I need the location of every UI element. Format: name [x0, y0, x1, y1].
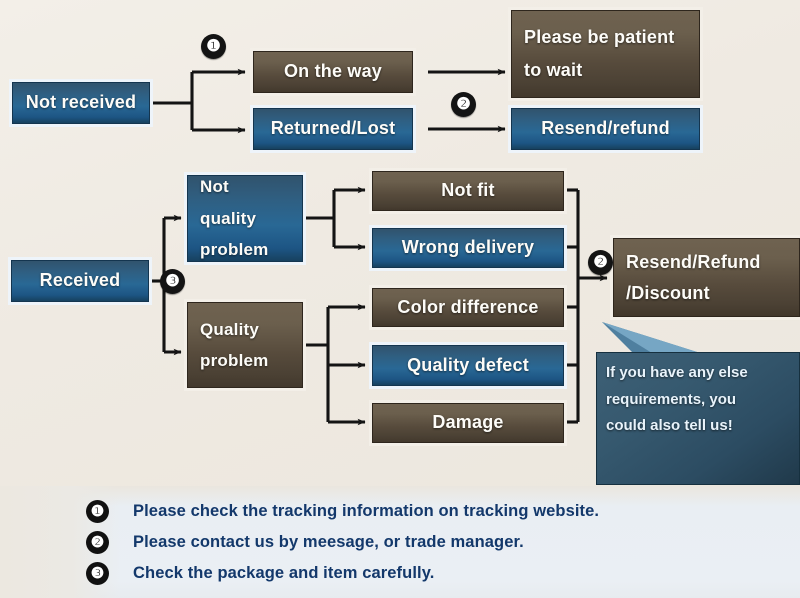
node-received[interactable]: Received: [11, 260, 149, 302]
legend-bullet-2: ❷: [86, 531, 109, 554]
node-label: Received: [12, 264, 148, 297]
node-label: Not quality problem: [200, 171, 290, 265]
node-quality-problem[interactable]: Quality problem: [187, 302, 303, 388]
legend-text-2: Please contact us by meesage, or trade m…: [133, 533, 524, 552]
marker-symbol: ❸: [165, 274, 179, 290]
legend-text-1: Please check the tracking information on…: [133, 502, 599, 521]
marker-symbol: ❶: [206, 39, 220, 55]
node-resend-refund[interactable]: Resend/refund: [511, 108, 700, 150]
node-label: Quality defect: [373, 349, 563, 382]
marker-3-received: ❸: [160, 269, 185, 294]
node-label: Not received: [13, 86, 149, 119]
marker-symbol: ❷: [593, 255, 607, 271]
legend-bullet-1: ❶: [86, 500, 109, 523]
legend: ❶ Please check the tracking information …: [86, 496, 746, 589]
node-label: Resend/refund: [512, 112, 699, 145]
node-label: Wrong delivery: [373, 231, 563, 264]
node-not-quality-problem[interactable]: Not quality problem: [187, 175, 303, 262]
node-not-received[interactable]: Not received: [12, 82, 150, 124]
marker-2-discount: ❷: [588, 250, 613, 275]
legend-bullet-3: ❸: [86, 562, 109, 585]
node-not-fit[interactable]: Not fit: [372, 171, 564, 211]
node-label: On the way: [254, 55, 412, 88]
node-on-the-way[interactable]: On the way: [253, 51, 413, 93]
node-damage[interactable]: Damage: [372, 403, 564, 443]
node-resend-refund-discount[interactable]: Resend/Refund /Discount: [613, 238, 800, 317]
legend-text-3: Check the package and item carefully.: [133, 564, 434, 583]
node-quality-defect[interactable]: Quality defect: [372, 345, 564, 386]
node-please-be-patient-to-wait[interactable]: Please be patient to wait: [511, 10, 700, 98]
node-label: Not fit: [373, 174, 563, 207]
marker-symbol: ❷: [456, 97, 470, 113]
node-label: Returned/Lost: [254, 112, 412, 145]
node-label: Please be patient to wait: [524, 21, 687, 88]
legend-item: ❶ Please check the tracking information …: [86, 496, 746, 527]
marker-1-on-the-way: ❶: [201, 34, 226, 59]
node-label: Quality problem: [200, 314, 290, 377]
legend-item: ❸ Check the package and item carefully.: [86, 558, 746, 589]
marker-2-resend-refund: ❷: [451, 92, 476, 117]
node-color-difference[interactable]: Color difference: [372, 288, 564, 327]
node-returned-lost[interactable]: Returned/Lost: [253, 108, 413, 150]
node-label: Damage: [373, 406, 563, 439]
node-label: Color difference: [373, 291, 563, 324]
legend-item: ❷ Please contact us by meesage, or trade…: [86, 527, 746, 558]
callout-text: If you have any else requirements, you c…: [606, 360, 799, 440]
flowchart-canvas: Not received On the way Returned/Lost Pl…: [0, 0, 800, 598]
node-label: Resend/Refund /Discount: [626, 247, 787, 309]
node-wrong-delivery[interactable]: Wrong delivery: [372, 228, 564, 268]
callout-bubble: If you have any else requirements, you c…: [596, 352, 800, 485]
